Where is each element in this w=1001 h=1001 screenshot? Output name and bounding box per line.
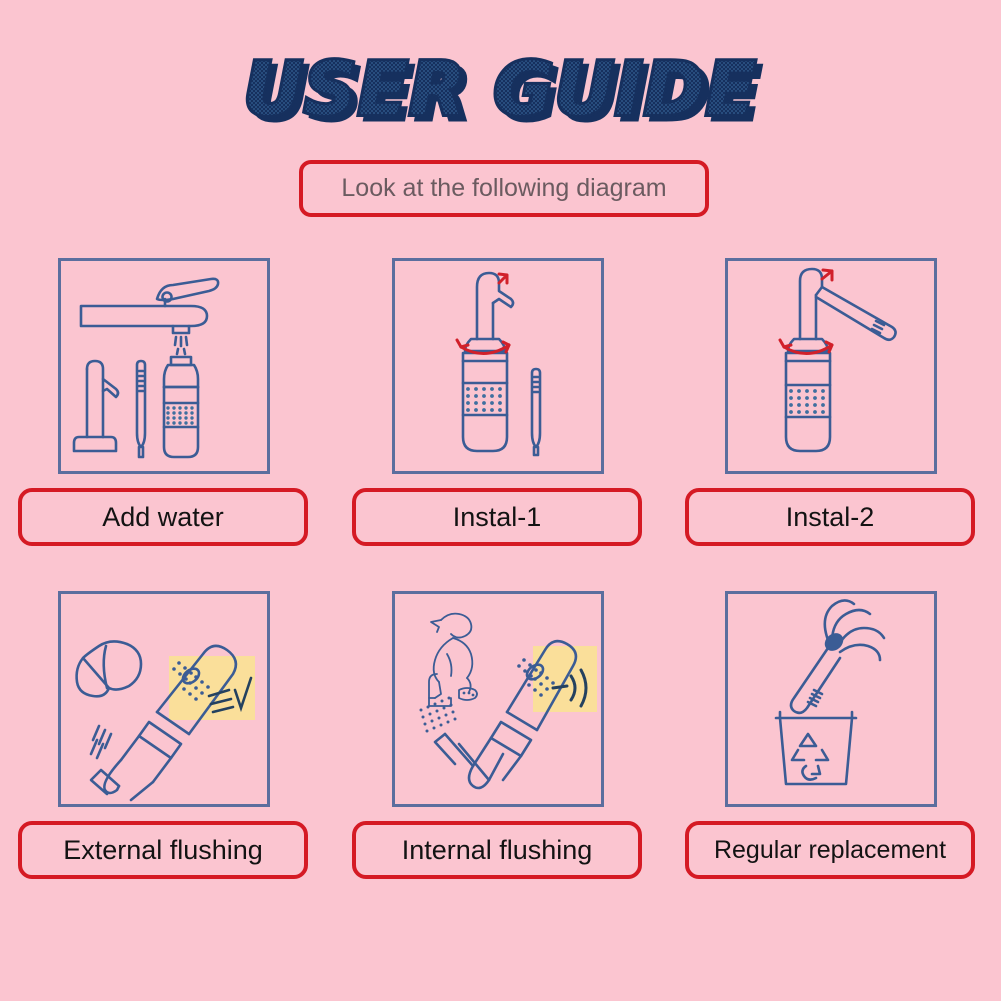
subtitle-text: Look at the following diagram — [341, 174, 666, 203]
step-label-text: Add water — [102, 502, 224, 533]
step-illustration-instal-1 — [392, 258, 604, 474]
step-card-add-water: Add water — [0, 250, 334, 583]
step-label-add-water: Add water — [18, 488, 308, 546]
step-illustration-regular-replacement — [725, 591, 937, 807]
step-label-instal-1: Instal-1 — [352, 488, 642, 546]
step-label-text: Instal-1 — [453, 502, 542, 533]
subtitle-box: Look at the following diagram — [299, 160, 709, 217]
step-label-text: Regular replacement — [714, 836, 946, 865]
step-card-internal-flushing: Internal flushing — [334, 583, 668, 916]
step-label-internal-flushing: Internal flushing — [352, 821, 642, 879]
step-card-external-flushing: External flushing — [0, 583, 334, 916]
title-fill-layer: USER GUIDE — [244, 47, 757, 131]
step-illustration-instal-2 — [725, 258, 937, 474]
step-label-text: External flushing — [63, 835, 263, 866]
step-card-instal-2: Instal-2 — [667, 250, 1001, 583]
page-title: USER GUIDE USER GUIDE USER GUIDE — [0, 44, 1001, 134]
steps-row-bottom: External flushing — [0, 583, 1001, 916]
step-label-instal-2: Instal-2 — [685, 488, 975, 546]
step-card-regular-replacement: Regular replacement — [667, 583, 1001, 916]
step-label-regular-replacement: Regular replacement — [685, 821, 975, 879]
step-label-text: Instal-2 — [786, 502, 875, 533]
steps-grid: Add water — [0, 250, 1001, 916]
user-guide-page: USER GUIDE USER GUIDE USER GUIDE Look at… — [0, 0, 1001, 1001]
step-label-external-flushing: External flushing — [18, 821, 308, 879]
step-illustration-add-water — [58, 258, 270, 474]
step-illustration-external-flushing — [58, 591, 270, 807]
title-text-stack: USER GUIDE USER GUIDE USER GUIDE — [244, 44, 757, 134]
step-label-text: Internal flushing — [402, 835, 593, 866]
step-card-instal-1: Instal-1 — [334, 250, 668, 583]
step-illustration-internal-flushing — [392, 591, 604, 807]
steps-row-top: Add water — [0, 250, 1001, 583]
